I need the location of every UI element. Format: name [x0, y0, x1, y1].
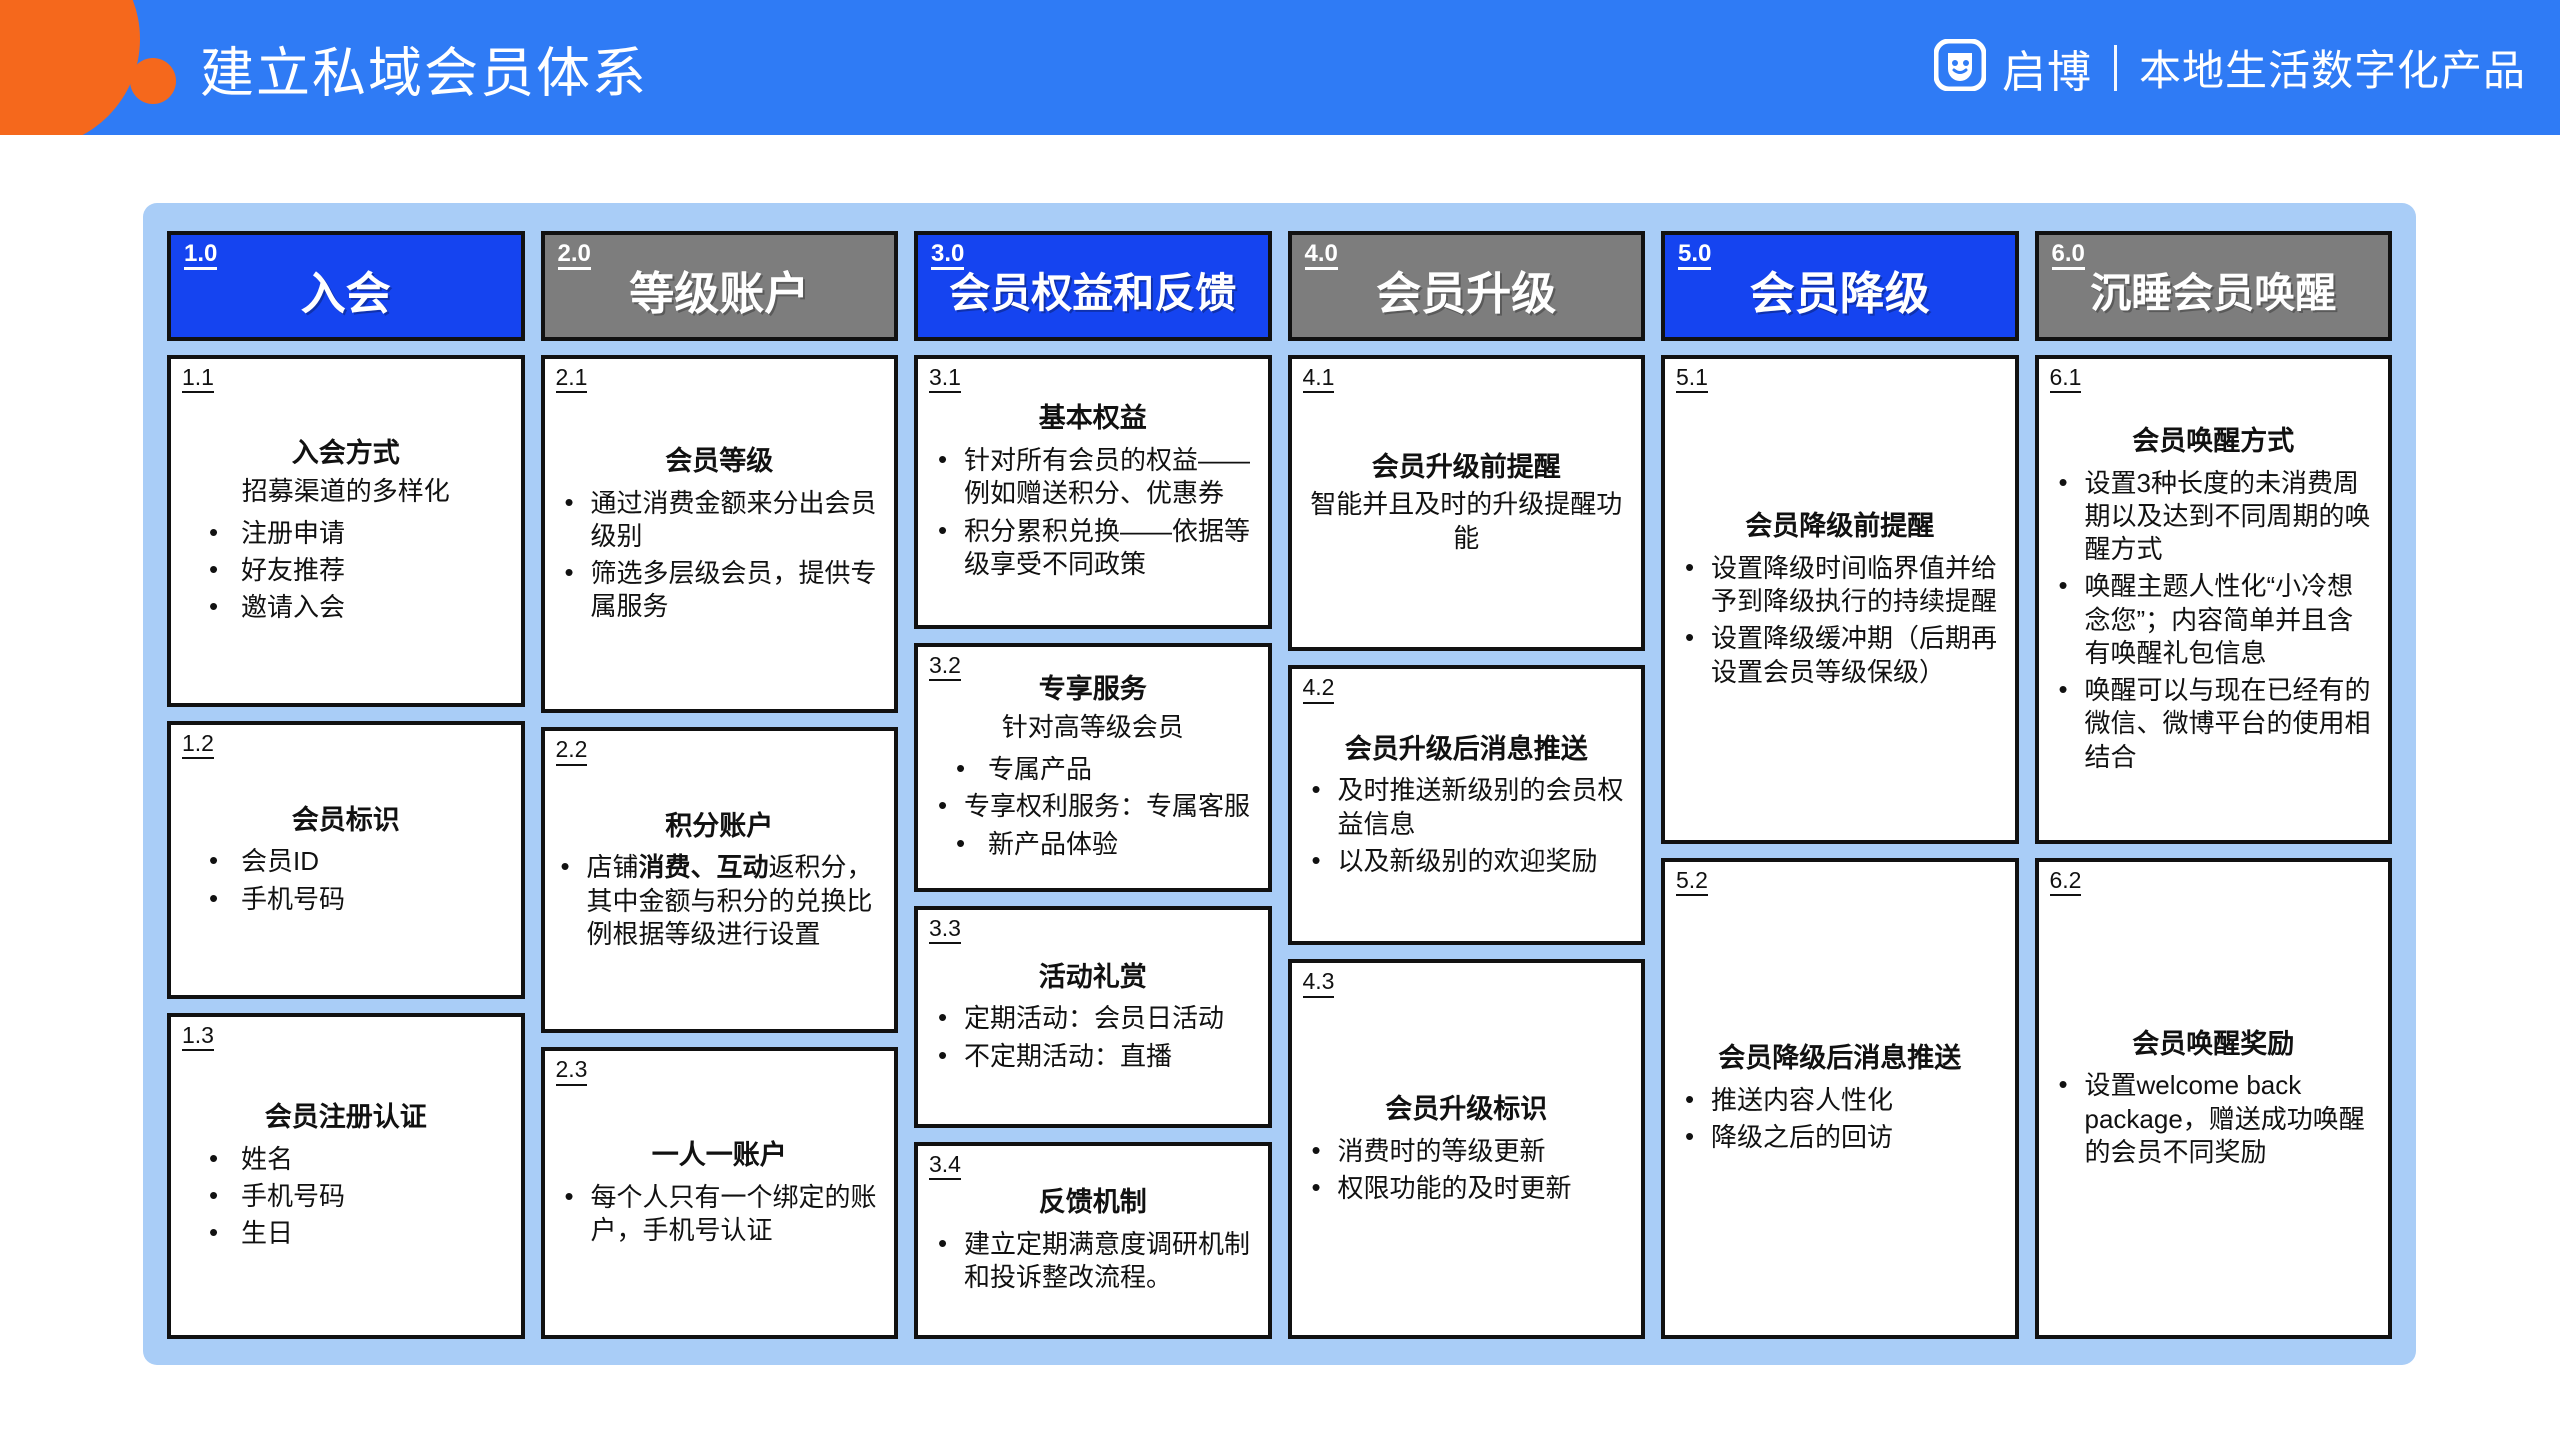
card-body: 积分账户店铺消费、互动返积分，其中金额与积分的兑换比例根据等级进行设置	[557, 747, 883, 1017]
card-body: 会员等级通过消费金额来分出会员级别筛选多层级会员，提供专属服务	[557, 375, 883, 697]
card-number: 6.2	[2050, 868, 2082, 896]
card-title: 入会方式	[183, 437, 509, 471]
card-body: 专享服务针对高等级会员专属产品专享权利服务：专属客服新产品体验	[930, 663, 1256, 876]
column-header-4-0[interactable]: 4.0会员升级	[1288, 231, 1646, 341]
bullet-item: 每个人只有一个绑定的账户，手机号认证	[557, 1181, 883, 1248]
card-number: 2.2	[556, 737, 588, 765]
card-title: 反馈机制	[930, 1186, 1256, 1220]
bullet-item: 针对所有会员的权益——例如赠送积分、优惠券	[930, 444, 1256, 511]
card-title: 会员标识	[183, 804, 509, 838]
board-card-2-3[interactable]: 2.3一人一账户每个人只有一个绑定的账户，手机号认证	[541, 1047, 899, 1339]
bullet-item: 唤醒主题人性化“小冷想念您”；内容简单并且含有唤醒礼包信息	[2051, 570, 2377, 670]
bullet-item: 通过消费金额来分出会员级别	[557, 487, 883, 554]
board-card-3-3[interactable]: 3.3活动礼赏定期活动：会员日活动不定期活动：直播	[914, 906, 1272, 1128]
column-number: 2.0	[558, 241, 591, 270]
card-title: 会员降级前提醒	[1677, 510, 2003, 544]
brand-tagline: 本地生活数字化产品	[2139, 37, 2526, 98]
card-bullet-list: 店铺消费、互动返积分，其中金额与积分的兑换比例根据等级进行设置	[557, 847, 883, 955]
board-column-5-0: 5.0会员降级5.1会员降级前提醒设置降级时间临界值并给予到降级执行的持续提醒设…	[1661, 231, 2019, 1339]
bullet-item: 店铺消费、互动返积分，其中金额与积分的兑换比例根据等级进行设置	[557, 851, 883, 951]
board-column-4-0: 4.0会员升级4.1会员升级前提醒智能并且及时的升级提醒功能4.2会员升级后消息…	[1288, 231, 1646, 1339]
card-number: 2.1	[556, 365, 588, 393]
column-title: 入会	[301, 270, 391, 317]
card-number: 4.2	[1303, 675, 1335, 703]
card-body: 活动礼赏定期活动：会员日活动不定期活动：直播	[930, 926, 1256, 1112]
card-number: 3.1	[929, 365, 961, 393]
bullet-item: 设置welcome back package，赠送成功唤醒的会员不同奖励	[2051, 1069, 2377, 1169]
bullet-item: 不定期活动：直播	[930, 1040, 1256, 1073]
card-bullet-list: 消费时的等级更新权限功能的及时更新	[1304, 1131, 1630, 1210]
board-card-2-1[interactable]: 2.1会员等级通过消费金额来分出会员级别筛选多层级会员，提供专属服务	[541, 355, 899, 713]
board-card-1-2[interactable]: 1.2会员标识会员ID手机号码	[167, 721, 525, 999]
card-body: 会员降级前提醒设置降级时间临界值并给予到降级执行的持续提醒设置降级缓冲期（后期再…	[1677, 375, 2003, 828]
card-bullet-list: 及时推送新级别的会员权益信息以及新级别的欢迎奖励	[1304, 770, 1630, 882]
board-column-3-0: 3.0会员权益和反馈3.1基本权益针对所有会员的权益——例如赠送积分、优惠券积分…	[914, 231, 1272, 1339]
column-header-3-0[interactable]: 3.0会员权益和反馈	[914, 231, 1272, 341]
card-body: 会员唤醒奖励设置welcome back package，赠送成功唤醒的会员不同…	[2051, 878, 2377, 1323]
column-title: 会员权益和反馈	[949, 272, 1236, 315]
card-number: 1.2	[182, 731, 214, 759]
card-title: 会员唤醒奖励	[2051, 1028, 2377, 1062]
membership-system-board: 1.0入会1.1入会方式招募渠道的多样化注册申请好友推荐邀请入会1.2会员标识会…	[143, 203, 2416, 1365]
card-body: 会员注册认证姓名手机号码生日	[183, 1033, 509, 1323]
bullet-item: 注册申请	[183, 517, 509, 550]
card-body: 反馈机制建立定期满意度调研机制和投诉整改流程。	[930, 1162, 1256, 1323]
column-title: 沉睡会员唤醒	[2090, 272, 2336, 315]
bullet-item: 降级之后的回访	[1677, 1121, 2003, 1154]
column-title: 会员升级	[1376, 270, 1556, 317]
bullet-item: 专享权利服务：专属客服	[930, 790, 1256, 823]
card-subtitle: 智能并且及时的升级提醒功能	[1304, 488, 1630, 556]
bullet-item: 定期活动：会员日活动	[930, 1002, 1256, 1035]
board-card-4-2[interactable]: 4.2会员升级后消息推送及时推送新级别的会员权益信息以及新级别的欢迎奖励	[1288, 665, 1646, 945]
card-bullet-list: 设置welcome back package，赠送成功唤醒的会员不同奖励	[2051, 1065, 2377, 1173]
bullet-item: 设置3种长度的未消费周期以及达到不同周期的唤醒方式	[2051, 467, 2377, 567]
board-card-1-3[interactable]: 1.3会员注册认证姓名手机号码生日	[167, 1013, 525, 1339]
card-title: 会员升级标识	[1304, 1093, 1630, 1127]
card-title: 会员唤醒方式	[2051, 425, 2377, 459]
column-number: 1.0	[184, 241, 217, 270]
page-title: 建立私域会员体系	[200, 28, 648, 107]
card-subtitle: 招募渠道的多样化	[183, 475, 509, 509]
board-card-6-2[interactable]: 6.2会员唤醒奖励设置welcome back package，赠送成功唤醒的会…	[2035, 858, 2393, 1339]
bullet-item: 邀请入会	[183, 591, 509, 624]
bullet-item: 筛选多层级会员，提供专属服务	[557, 557, 883, 624]
board-card-4-1[interactable]: 4.1会员升级前提醒智能并且及时的升级提醒功能	[1288, 355, 1646, 651]
bullet-item: 建立定期满意度调研机制和投诉整改流程。	[930, 1228, 1256, 1295]
board-card-1-1[interactable]: 1.1入会方式招募渠道的多样化注册申请好友推荐邀请入会	[167, 355, 525, 707]
column-title: 会员降级	[1750, 270, 1930, 317]
card-bullet-list: 设置降级时间临界值并给予到降级执行的持续提醒设置降级缓冲期（后期再设置会员等级保…	[1677, 548, 2003, 693]
board-card-6-1[interactable]: 6.1会员唤醒方式设置3种长度的未消费周期以及达到不同周期的唤醒方式唤醒主题人性…	[2035, 355, 2393, 844]
card-number: 4.1	[1303, 365, 1335, 393]
card-title: 会员升级后消息推送	[1304, 733, 1630, 767]
column-title: 等级账户	[629, 270, 809, 317]
card-number: 1.3	[182, 1023, 214, 1051]
card-number: 4.3	[1303, 969, 1335, 997]
bullet-item: 权限功能的及时更新	[1304, 1172, 1630, 1205]
board-column-2-0: 2.0等级账户2.1会员等级通过消费金额来分出会员级别筛选多层级会员，提供专属服…	[541, 231, 899, 1339]
bullet-item: 手机号码	[183, 1180, 509, 1213]
card-body: 会员升级标识消费时的等级更新权限功能的及时更新	[1304, 979, 1630, 1323]
card-title: 活动礼赏	[930, 961, 1256, 995]
column-header-6-0[interactable]: 6.0沉睡会员唤醒	[2035, 231, 2393, 341]
card-title: 一人一账户	[557, 1139, 883, 1173]
bullet-item: 消费时的等级更新	[1304, 1135, 1630, 1168]
board-column-1-0: 1.0入会1.1入会方式招募渠道的多样化注册申请好友推荐邀请入会1.2会员标识会…	[167, 231, 525, 1339]
card-bullet-list: 每个人只有一个绑定的账户，手机号认证	[557, 1177, 883, 1252]
bullet-item: 生日	[183, 1217, 509, 1250]
card-bullet-list: 建立定期满意度调研机制和投诉整改流程。	[930, 1224, 1256, 1299]
card-bullet-list: 姓名手机号码生日	[183, 1139, 509, 1255]
card-body: 会员降级后消息推送推送内容人性化降级之后的回访	[1677, 878, 2003, 1323]
card-title: 积分账户	[557, 810, 883, 844]
card-title: 会员降级后消息推送	[1677, 1042, 2003, 1076]
card-bullet-list: 设置3种长度的未消费周期以及达到不同周期的唤醒方式唤醒主题人性化“小冷想念您”；…	[2051, 463, 2377, 778]
card-title: 会员升级前提醒	[1304, 451, 1630, 485]
card-bullet-list: 通过消费金额来分出会员级别筛选多层级会员，提供专属服务	[557, 483, 883, 628]
board-card-5-1[interactable]: 5.1会员降级前提醒设置降级时间临界值并给予到降级执行的持续提醒设置降级缓冲期（…	[1661, 355, 2019, 844]
brand-lockup: 启博 本地生活数字化产品	[1934, 36, 2526, 100]
decorative-circle-small	[130, 58, 176, 104]
card-title: 专享服务	[930, 673, 1256, 707]
card-body: 会员升级后消息推送及时推送新级别的会员权益信息以及新级别的欢迎奖励	[1304, 685, 1630, 929]
column-header-1-0[interactable]: 1.0入会	[167, 231, 525, 341]
bullet-item: 专属产品	[930, 753, 1256, 786]
bullet-item: 好友推荐	[183, 554, 509, 587]
card-bullet-list: 推送内容人性化降级之后的回访	[1677, 1080, 2003, 1159]
card-number: 3.4	[929, 1152, 961, 1180]
column-header-2-0[interactable]: 2.0等级账户	[541, 231, 899, 341]
bullet-item: 推送内容人性化	[1677, 1084, 2003, 1117]
board-card-3-1[interactable]: 3.1基本权益针对所有会员的权益——例如赠送积分、优惠券积分累积兑换——依据等级…	[914, 355, 1272, 629]
card-body: 基本权益针对所有会员的权益——例如赠送积分、优惠券积分累积兑换——依据等级享受不…	[930, 375, 1256, 613]
card-number: 3.3	[929, 916, 961, 944]
bullet-item: 积分累积兑换——依据等级享受不同政策	[930, 515, 1256, 582]
card-title: 基本权益	[930, 402, 1256, 436]
bullet-item: 设置降级缓冲期（后期再设置会员等级保级）	[1677, 622, 2003, 689]
card-number: 3.2	[929, 653, 961, 681]
card-body: 会员升级前提醒智能并且及时的升级提醒功能	[1304, 375, 1630, 635]
card-number: 5.2	[1676, 868, 1708, 896]
column-number: 3.0	[931, 241, 964, 270]
card-title: 会员等级	[557, 445, 883, 479]
board-card-4-3[interactable]: 4.3会员升级标识消费时的等级更新权限功能的及时更新	[1288, 959, 1646, 1339]
card-bullet-list: 专属产品专享权利服务：专属客服新产品体验	[930, 749, 1256, 865]
bullet-item: 及时推送新级别的会员权益信息	[1304, 774, 1630, 841]
card-number: 5.1	[1676, 365, 1708, 393]
card-body: 会员标识会员ID手机号码	[183, 741, 509, 983]
bullet-item: 新产品体验	[930, 828, 1256, 861]
card-bullet-list: 针对所有会员的权益——例如赠送积分、优惠券积分累积兑换——依据等级享受不同政策	[930, 440, 1256, 585]
bullet-item: 会员ID	[183, 845, 509, 878]
card-bullet-list: 会员ID手机号码	[183, 841, 509, 920]
card-bullet-list: 注册申请好友推荐邀请入会	[183, 513, 509, 629]
card-body: 一人一账户每个人只有一个绑定的账户，手机号认证	[557, 1067, 883, 1323]
bullet-item: 手机号码	[183, 883, 509, 916]
board-card-3-2[interactable]: 3.2专享服务针对高等级会员专属产品专享权利服务：专属客服新产品体验	[914, 643, 1272, 892]
page-header: 建立私域会员体系 启博 本地生活数字化产品	[0, 0, 2560, 135]
card-bullet-list: 定期活动：会员日活动不定期活动：直播	[930, 998, 1256, 1077]
bullet-item: 唤醒可以与现在已经有的微信、微博平台的使用相结合	[2051, 674, 2377, 774]
column-header-5-0[interactable]: 5.0会员降级	[1661, 231, 2019, 341]
card-number: 6.1	[2050, 365, 2082, 393]
brand-name: 启博	[2002, 36, 2092, 100]
bullet-item: 设置降级时间临界值并给予到降级执行的持续提醒	[1677, 552, 2003, 619]
brand-divider	[2114, 45, 2117, 91]
qibo-logo-icon	[1934, 39, 1986, 96]
board-column-6-0: 6.0沉睡会员唤醒6.1会员唤醒方式设置3种长度的未消费周期以及达到不同周期的唤…	[2035, 231, 2393, 1339]
card-subtitle: 针对高等级会员	[930, 711, 1256, 745]
board-card-5-2[interactable]: 5.2会员降级后消息推送推送内容人性化降级之后的回访	[1661, 858, 2019, 1339]
decorative-circle-large	[0, 0, 140, 135]
column-number: 4.0	[1305, 241, 1338, 270]
card-number: 1.1	[182, 365, 214, 393]
bullet-item: 姓名	[183, 1143, 509, 1176]
board-card-3-4[interactable]: 3.4反馈机制建立定期满意度调研机制和投诉整改流程。	[914, 1142, 1272, 1339]
card-body: 会员唤醒方式设置3种长度的未消费周期以及达到不同周期的唤醒方式唤醒主题人性化“小…	[2051, 375, 2377, 828]
board-card-2-2[interactable]: 2.2积分账户店铺消费、互动返积分，其中金额与积分的兑换比例根据等级进行设置	[541, 727, 899, 1033]
card-number: 2.3	[556, 1057, 588, 1085]
column-number: 5.0	[1678, 241, 1711, 270]
card-body: 入会方式招募渠道的多样化注册申请好友推荐邀请入会	[183, 375, 509, 691]
column-number: 6.0	[2052, 241, 2085, 270]
card-title: 会员注册认证	[183, 1101, 509, 1135]
bullet-item: 以及新级别的欢迎奖励	[1304, 845, 1630, 878]
